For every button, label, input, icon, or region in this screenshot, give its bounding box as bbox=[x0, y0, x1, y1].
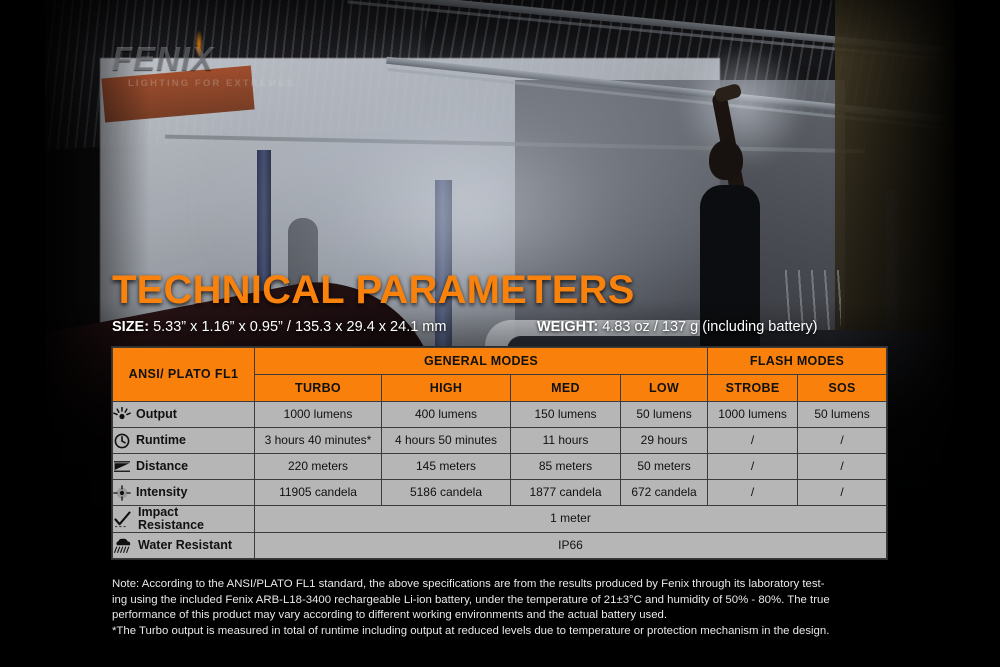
logo-spark-icon bbox=[186, 24, 212, 64]
technical-parameters-table: ANSI/ PLATO FL1 GENERAL MODES FLASH MODE… bbox=[112, 347, 887, 559]
cell-intensity-turbo: 11905 candela bbox=[255, 480, 382, 506]
cell-output-low: 50 lumens bbox=[621, 402, 708, 428]
footnote-line-2: ing using the included Fenix ARB-L18-340… bbox=[112, 593, 902, 609]
cell-output-sos: 50 lumens bbox=[798, 402, 887, 428]
header-flash-modes: FLASH MODES bbox=[708, 348, 887, 375]
cell-intensity-high: 5186 candela bbox=[382, 480, 511, 506]
cell-water-resistant-value: IP66 bbox=[255, 533, 887, 559]
person-head bbox=[709, 140, 743, 180]
impact-label-line2: Resistance bbox=[138, 518, 204, 532]
weight-value: 4.83 oz / 137 g (including battery) bbox=[598, 319, 817, 335]
header-ansi-plato: ANSI/ PLATO FL1 bbox=[113, 348, 255, 402]
header-mode-sos: SOS bbox=[798, 375, 887, 402]
cell-output-high: 400 lumens bbox=[382, 402, 511, 428]
row-label-text: Intensity bbox=[136, 485, 187, 499]
row-label-runtime: Runtime bbox=[113, 428, 255, 454]
table-header-row-groups: ANSI/ PLATO FL1 GENERAL MODES FLASH MODE… bbox=[113, 348, 887, 375]
size-value: 5.33” x 1.16” x 0.95” / 135.3 x 29.4 x 2… bbox=[149, 319, 446, 335]
header-mode-med: MED bbox=[511, 375, 621, 402]
footnote-block: Note: According to the ANSI/PLATO FL1 st… bbox=[112, 577, 902, 640]
table-row: Water Resistant IP66 bbox=[113, 533, 887, 559]
page-title: TECHNICAL PARAMETERS bbox=[112, 268, 635, 313]
clock-icon bbox=[113, 433, 131, 449]
cell-intensity-sos: / bbox=[798, 480, 887, 506]
header-mode-strobe: STROBE bbox=[708, 375, 798, 402]
row-label-output: Output bbox=[113, 402, 255, 428]
cell-distance-med: 85 meters bbox=[511, 454, 621, 480]
cell-runtime-strobe: / bbox=[708, 428, 798, 454]
row-label-intensity: Intensity bbox=[113, 480, 255, 506]
table-row: Impact Resistance 1 meter bbox=[113, 506, 887, 533]
header-mode-low: LOW bbox=[621, 375, 708, 402]
impact-label-line1: Impact bbox=[138, 505, 178, 519]
row-label-water-resistant: Water Resistant bbox=[113, 533, 255, 559]
cell-distance-strobe: / bbox=[708, 454, 798, 480]
flashlight-glow bbox=[673, 40, 813, 170]
size-spec: SIZE: 5.33” x 1.16” x 0.95” / 135.3 x 29… bbox=[112, 319, 446, 335]
cell-intensity-strobe: / bbox=[708, 480, 798, 506]
rain-cloud-icon bbox=[113, 537, 133, 554]
row-label-text: Runtime bbox=[136, 433, 186, 447]
cell-distance-turbo: 220 meters bbox=[255, 454, 382, 480]
footnote-line-3: performance of this product may vary acc… bbox=[112, 608, 902, 624]
table-body: Output 1000 lumens 400 lumens 150 lumens… bbox=[113, 402, 887, 559]
cell-intensity-low: 672 candela bbox=[621, 480, 708, 506]
table-row: Distance 220 meters 145 meters 85 meters… bbox=[113, 454, 887, 480]
row-label-text: Water Resistant bbox=[138, 538, 232, 552]
row-label-text: Distance bbox=[136, 459, 188, 473]
row-label-text: Output bbox=[136, 407, 177, 421]
cell-runtime-turbo: 3 hours 40 minutes* bbox=[255, 428, 382, 454]
row-label-impact-resistance: Impact Resistance bbox=[113, 506, 255, 533]
cell-runtime-high: 4 hours 50 minutes bbox=[382, 428, 511, 454]
weight-label: WEIGHT: bbox=[537, 319, 598, 335]
row-label-text: Impact Resistance bbox=[138, 506, 204, 532]
table-header: ANSI/ PLATO FL1 GENERAL MODES FLASH MODE… bbox=[113, 348, 887, 402]
cell-output-med: 150 lumens bbox=[511, 402, 621, 428]
cell-distance-low: 50 meters bbox=[621, 454, 708, 480]
sunburst-icon bbox=[113, 407, 131, 422]
logo-tagline: LIGHTING FOR EXTREMES bbox=[128, 78, 295, 89]
cell-intensity-med: 1877 candela bbox=[511, 480, 621, 506]
cell-runtime-med: 11 hours bbox=[511, 428, 621, 454]
fenix-logo: FENIX LIGHTING FOR EXTREMES bbox=[112, 42, 295, 89]
crosshair-icon bbox=[113, 485, 131, 501]
cell-output-strobe: 1000 lumens bbox=[708, 402, 798, 428]
header-mode-high: HIGH bbox=[382, 375, 511, 402]
table-row: Runtime 3 hours 40 minutes* 4 hours 50 m… bbox=[113, 428, 887, 454]
cell-distance-sos: / bbox=[798, 454, 887, 480]
cell-runtime-sos: / bbox=[798, 428, 887, 454]
row-label-distance: Distance bbox=[113, 454, 255, 480]
beam-icon bbox=[113, 459, 131, 474]
page-root: FENIX LIGHTING FOR EXTREMES TECHNICAL PA… bbox=[0, 0, 1000, 667]
header-mode-turbo: TURBO bbox=[255, 375, 382, 402]
weight-spec: WEIGHT: 4.83 oz / 137 g (including batte… bbox=[537, 319, 817, 335]
size-label: SIZE: bbox=[112, 319, 149, 335]
footnote-line-1: Note: According to the ANSI/PLATO FL1 st… bbox=[112, 577, 902, 593]
header-general-modes: GENERAL MODES bbox=[255, 348, 708, 375]
checkmark-icon bbox=[113, 510, 133, 529]
table-row: Intensity 11905 candela 5186 candela 187… bbox=[113, 480, 887, 506]
footnote-line-4: *The Turbo output is measured in total o… bbox=[112, 624, 902, 640]
cell-output-turbo: 1000 lumens bbox=[255, 402, 382, 428]
cell-runtime-low: 29 hours bbox=[621, 428, 708, 454]
table-row: Output 1000 lumens 400 lumens 150 lumens… bbox=[113, 402, 887, 428]
cell-impact-resistance-value: 1 meter bbox=[255, 506, 887, 533]
cell-distance-high: 145 meters bbox=[382, 454, 511, 480]
